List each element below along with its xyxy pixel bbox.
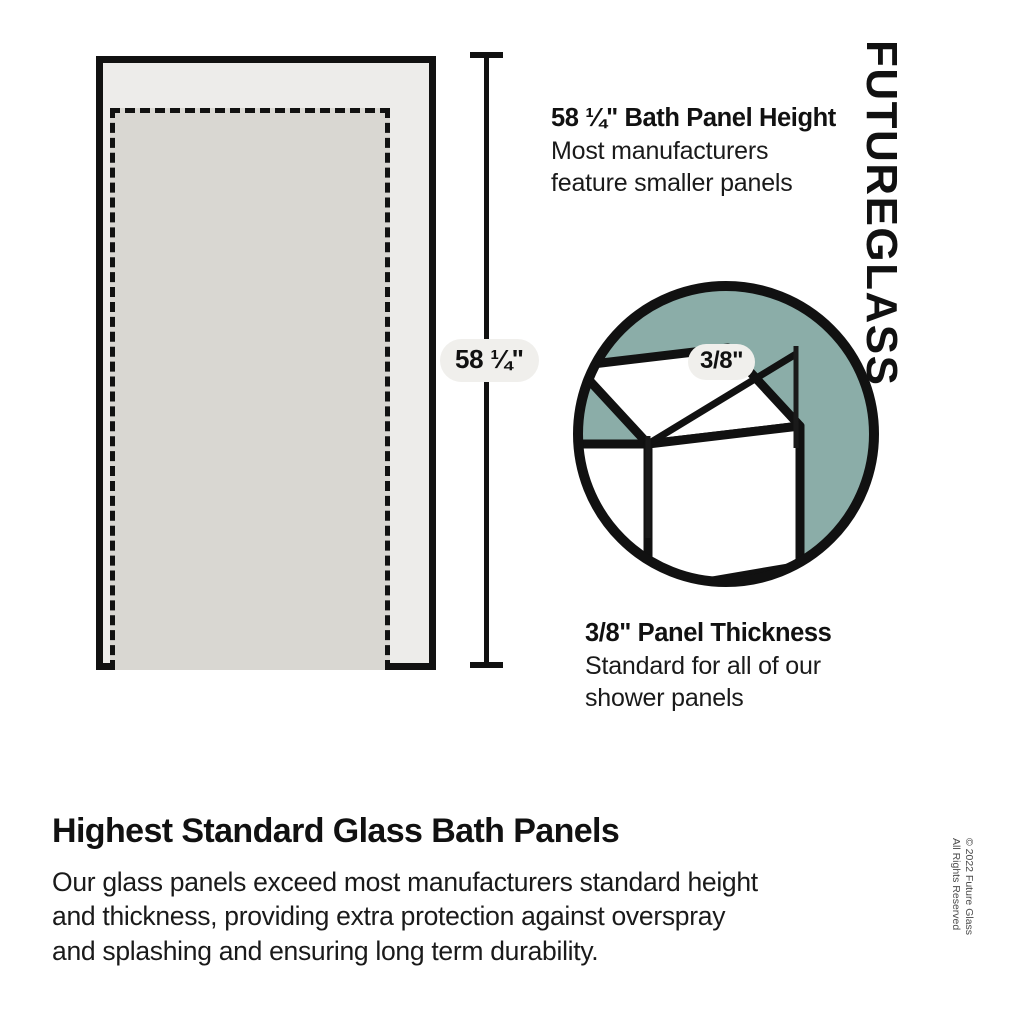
footer-text-block: Highest Standard Glass Bath Panels Our g… — [52, 812, 897, 968]
dimension-cap-bottom-icon — [470, 662, 503, 668]
callout-thickness-body-line1: Standard for all of our — [585, 650, 831, 682]
copyright-notice: © 2022 Future Glass All Rights Reserved — [949, 838, 975, 935]
thickness-dimension-badge: 3/8" — [688, 344, 755, 380]
callout-thickness-title: 3/8" Panel Thickness — [585, 619, 831, 648]
height-dimension-badge: 58 ¼" — [440, 339, 539, 382]
callout-panel-thickness: 3/8" Panel Thickness Standard for all of… — [585, 619, 831, 714]
brand-wordmark: FUTUREGLASS — [783, 40, 903, 160]
copyright-line-2: All Rights Reserved — [949, 838, 962, 935]
panel-thickness-detail-illustration — [568, 276, 884, 592]
dimension-cap-top-icon — [470, 52, 503, 58]
footer-paragraph-line3: and splashing and ensuring long term dur… — [52, 934, 897, 968]
competitor-panel-dashed-outline — [110, 108, 390, 670]
callout-height-body-line2: feature smaller panels — [551, 167, 836, 199]
footer-paragraph-line1: Our glass panels exceed most manufacture… — [52, 865, 897, 899]
copyright-line-1: © 2022 Future Glass — [962, 838, 975, 935]
footer-heading: Highest Standard Glass Bath Panels — [52, 812, 897, 851]
infographic-canvas: 58 ¼" 58 ¼" Bath Panel Height Most manuf… — [0, 0, 1024, 1024]
callout-thickness-body-line2: shower panels — [585, 682, 831, 714]
footer-paragraph-line2: and thickness, providing extra protectio… — [52, 899, 897, 933]
